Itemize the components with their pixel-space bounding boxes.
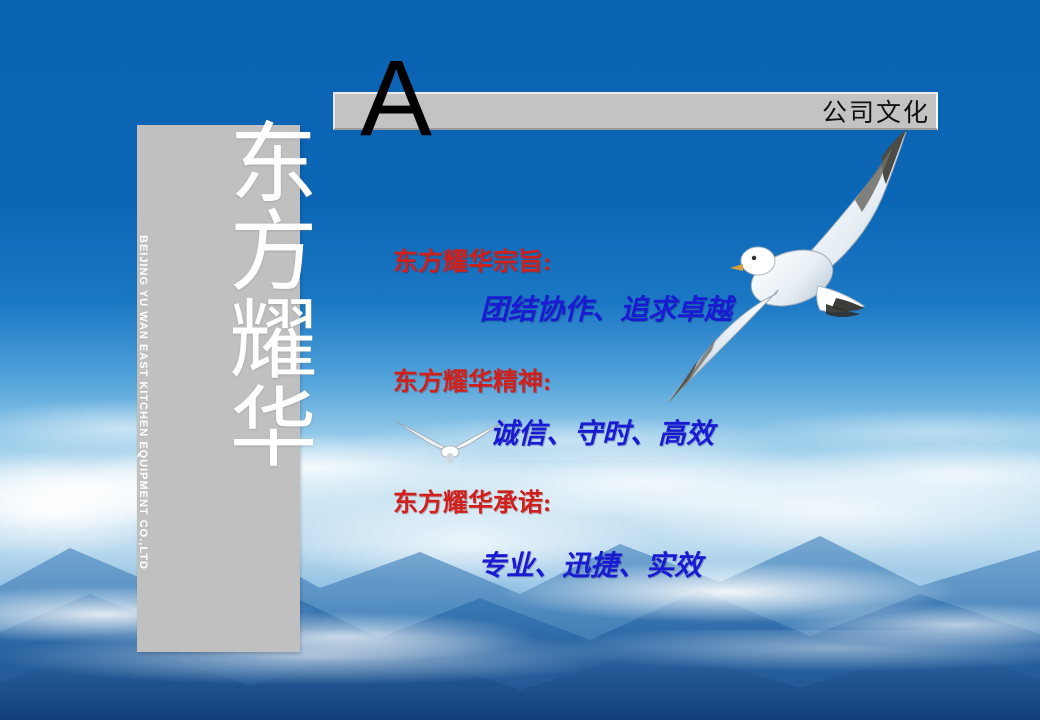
culture-heading-spirit: 东方耀华精神: bbox=[393, 362, 551, 398]
content-area: 东方耀华宗旨: 团结协作、追求卓越 东方耀华精神: 诚信、守时、高效 东方耀华承… bbox=[0, 0, 1040, 720]
culture-body-spirit: 诚信、守时、高效 bbox=[490, 412, 714, 452]
culture-body-promise: 专业、迅捷、实效 bbox=[478, 544, 702, 584]
culture-heading-purpose: 东方耀华宗旨: bbox=[393, 242, 551, 278]
culture-heading-promise: 东方耀华承诺: bbox=[393, 483, 551, 519]
slide-canvas: 东方耀华 BEIJING YU WAN EAST KITCHEN EQUIPME… bbox=[0, 0, 1040, 720]
culture-body-purpose: 团结协作、追求卓越 bbox=[480, 288, 732, 328]
